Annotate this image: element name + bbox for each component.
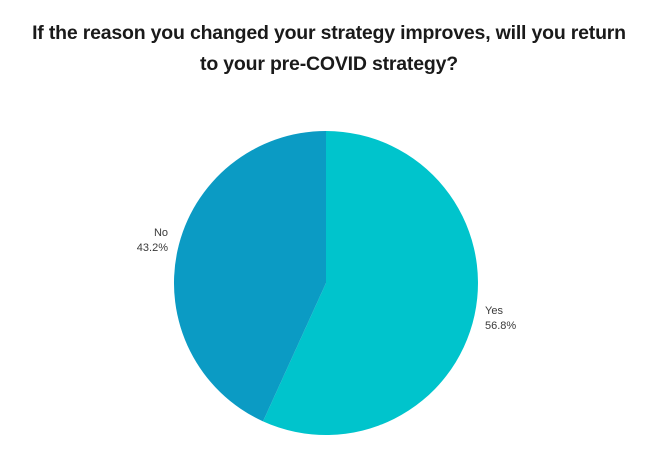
chart-title: If the reason you changed your strategy … [12,18,646,80]
pie-chart-card: If the reason you changed your strategy … [0,0,658,464]
pie-label-no: No 43.2% [137,226,168,255]
pie-svg [0,86,658,464]
pie-label-yes: Yes 56.8% [485,304,516,333]
pie-plot-area: No 43.2% Yes 56.8% [0,86,658,464]
